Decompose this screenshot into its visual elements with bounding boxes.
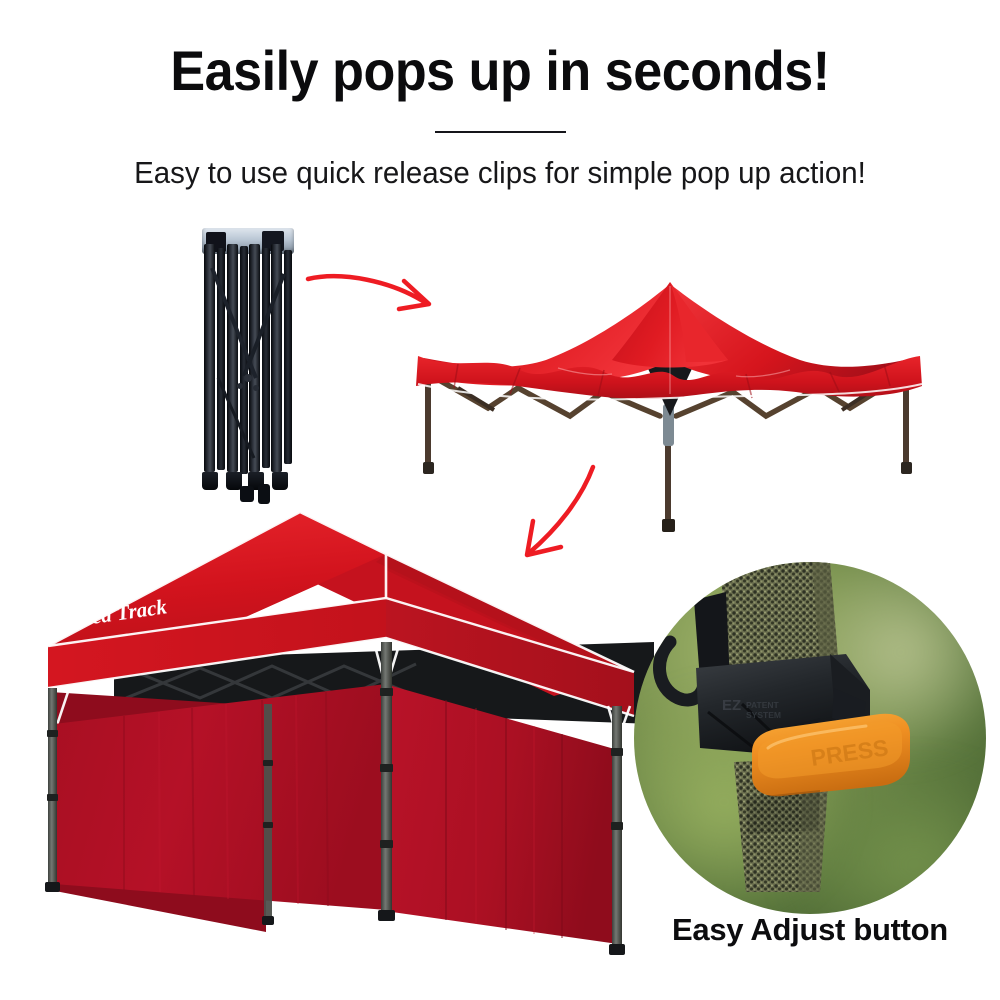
folded-gazebo-frame <box>196 228 300 488</box>
page-subheadline: Easy to use quick release clips for simp… <box>25 155 975 191</box>
page-headline: Easily pops up in seconds! <box>35 38 965 103</box>
assembled-gazebo: Red Track <box>14 492 654 962</box>
svg-text:SYSTEM: SYSTEM <box>746 710 781 720</box>
product-marketing-image: Easily pops up in seconds! Easy to use q… <box>0 0 1000 1000</box>
svg-text:PATENT: PATENT <box>746 700 780 710</box>
inset-caption: Easy Adjust button <box>600 912 1000 948</box>
frame-foot <box>202 472 218 490</box>
frame-diagonal-braces <box>196 228 300 488</box>
easy-adjust-button-photo: EZ PATENT SYSTEM PRESS <box>634 562 986 914</box>
headline-divider <box>435 131 566 133</box>
housing-brand-text: EZ <box>722 697 741 714</box>
frame-foot <box>272 472 288 490</box>
